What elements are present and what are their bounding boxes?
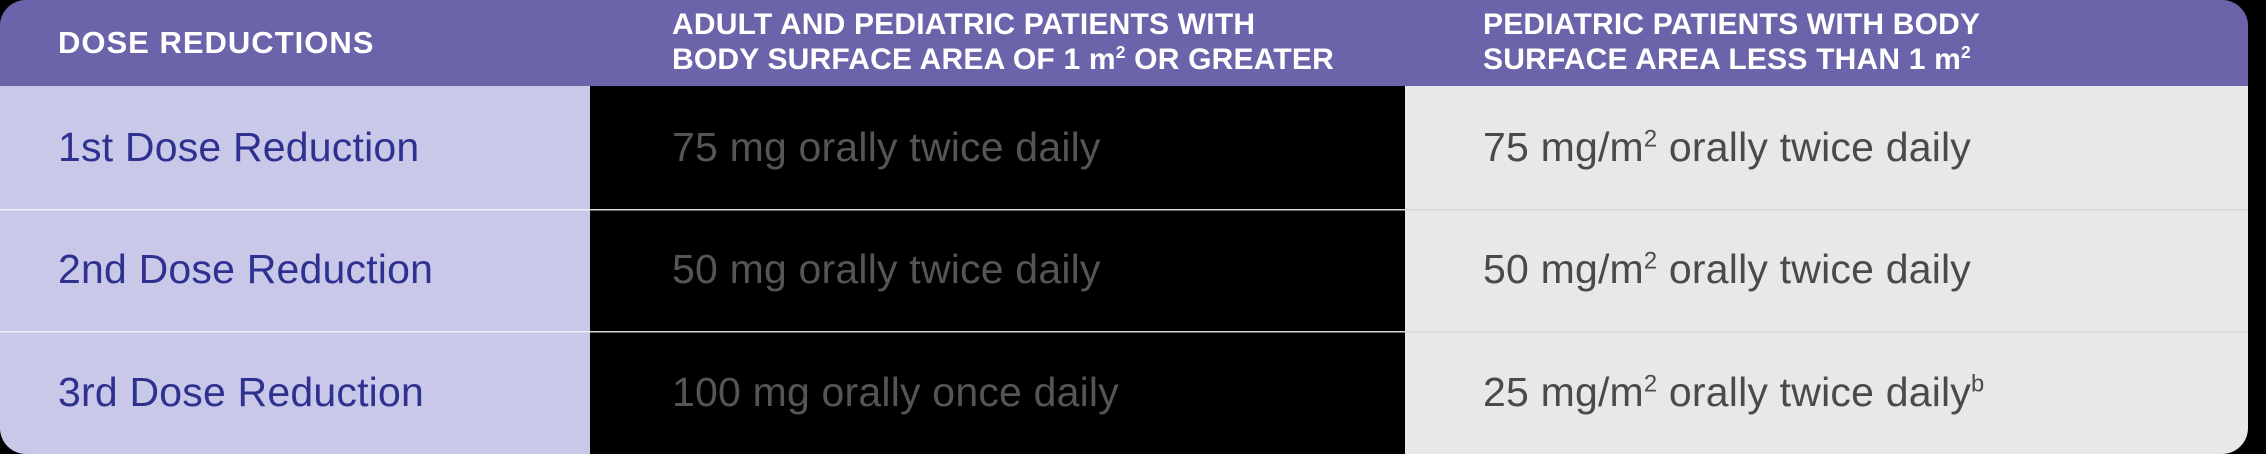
table-header: DOSE REDUCTIONS ADULT AND PEDIATRIC PATI… [0,0,2248,86]
row-label-text: 1st Dose Reduction [58,124,419,170]
pediatric-dose-pre: 75 mg/m [1483,124,1644,170]
table-body: 1st Dose Reduction 75 mg orally twice da… [0,86,2248,454]
pediatric-dose-post: orally twice daily [1657,246,1971,292]
column-header-adult-pediatric-bsa-ge-1: ADULT AND PEDIATRIC PATIENTS WITH BODY S… [590,0,1405,86]
column-header-adult-line1: ADULT AND PEDIATRIC PATIENTS WITH [672,8,1255,41]
adult-dose-text: 100 mg orally once daily [672,369,1119,415]
column-header-pediatric-bsa-lt-1: PEDIATRIC PATIENTS WITH BODY SURFACE ARE… [1405,0,2248,86]
row-label-cell: 3rd Dose Reduction [0,331,590,454]
column-header-pediatric-line2-pre: SURFACE AREA LESS THAN 1 m [1483,43,1961,76]
adult-dose-text: 75 mg orally twice daily [672,124,1101,170]
pediatric-dose-footnote: b [1971,370,1984,397]
table-row: 2nd Dose Reduction 50 mg orally twice da… [0,209,2248,332]
column-header-adult-superscript: 2 [1116,42,1126,62]
pediatric-dose-pre: 25 mg/m [1483,369,1644,415]
header-row: DOSE REDUCTIONS ADULT AND PEDIATRIC PATI… [0,0,2248,86]
pediatric-dose-cell: 25 mg/m2 orally twice dailyb [1405,331,2248,454]
table-row: 3rd Dose Reduction 100 mg orally once da… [0,331,2248,454]
dose-reduction-table: DOSE REDUCTIONS ADULT AND PEDIATRIC PATI… [0,0,2248,454]
column-header-dose-reductions: DOSE REDUCTIONS [0,0,590,86]
column-header-adult-line2-pre: BODY SURFACE AREA OF 1 m [672,43,1116,76]
pediatric-dose-cell: 75 mg/m2 orally twice daily [1405,86,2248,209]
dose-reduction-table-container: DOSE REDUCTIONS ADULT AND PEDIATRIC PATI… [0,0,2248,454]
adult-dose-cell: 50 mg orally twice daily [590,209,1405,332]
adult-dose-text: 50 mg orally twice daily [672,246,1101,292]
column-header-pediatric-superscript: 2 [1961,42,1971,62]
pediatric-dose-pre: 50 mg/m [1483,246,1644,292]
row-label-cell: 2nd Dose Reduction [0,209,590,332]
pediatric-dose-superscript: 2 [1644,370,1657,397]
column-header-adult-line2-post: OR GREATER [1126,43,1334,76]
pediatric-dose-superscript: 2 [1644,125,1657,152]
row-label-text: 2nd Dose Reduction [58,246,433,292]
pediatric-dose-cell: 50 mg/m2 orally twice daily [1405,209,2248,332]
adult-dose-cell: 100 mg orally once daily [590,331,1405,454]
pediatric-dose-post: orally twice daily [1657,369,1971,415]
column-header-dose-reductions-text: DOSE REDUCTIONS [58,25,374,60]
row-label-cell: 1st Dose Reduction [0,86,590,209]
column-header-pediatric-line1: PEDIATRIC PATIENTS WITH BODY [1483,8,1980,41]
adult-dose-cell: 75 mg orally twice daily [590,86,1405,209]
pediatric-dose-post: orally twice daily [1657,124,1971,170]
table-row: 1st Dose Reduction 75 mg orally twice da… [0,86,2248,209]
pediatric-dose-superscript: 2 [1644,248,1657,275]
row-label-text: 3rd Dose Reduction [58,369,424,415]
